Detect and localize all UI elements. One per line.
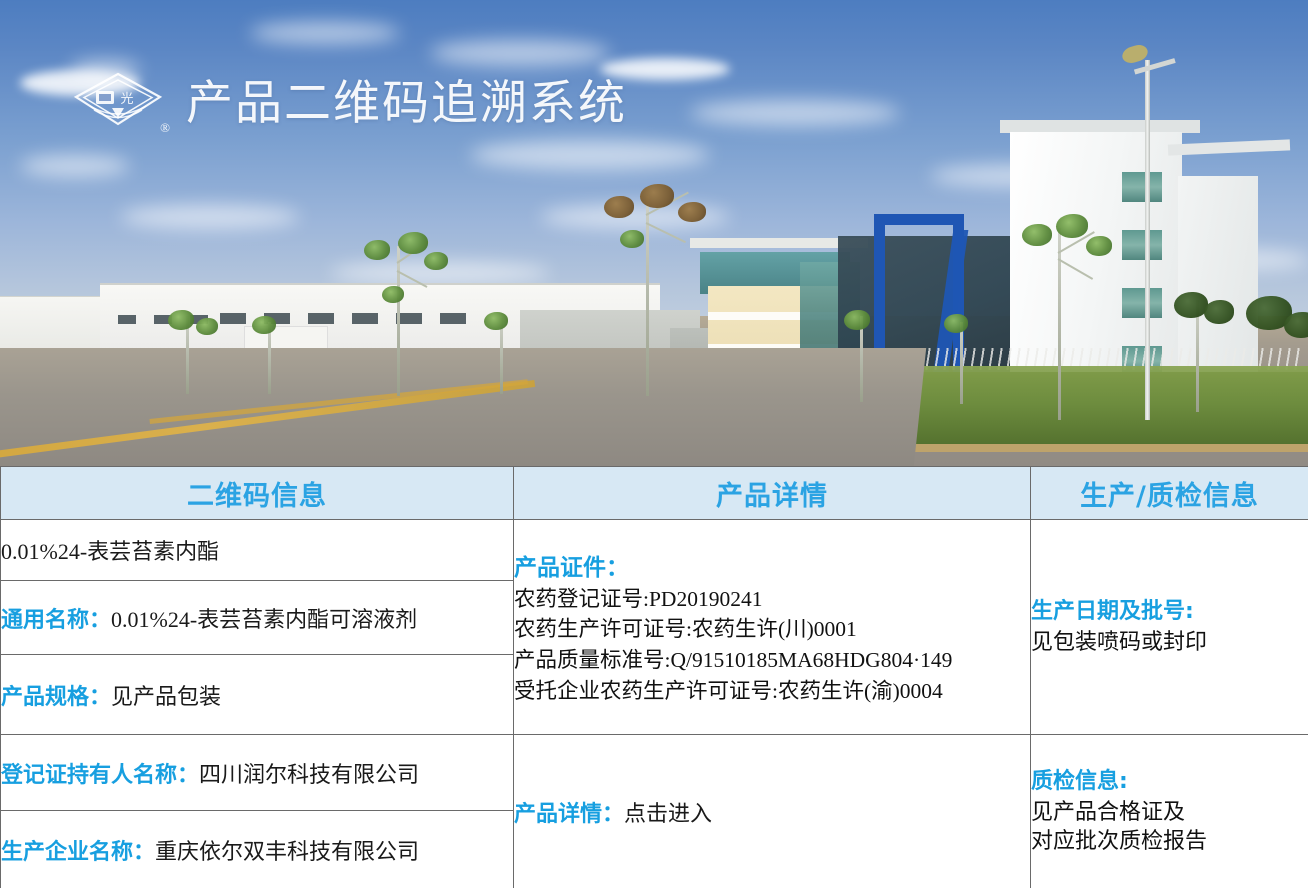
svg-text:光: 光: [120, 92, 133, 107]
table-row: 登记证持有人名称：四川润尔科技有限公司 产品详情：点击进入 质检信息: 见产品合…: [1, 735, 1308, 811]
tree-foliage: [398, 232, 428, 254]
glass-pane: [1122, 172, 1162, 202]
cell-production-date: 生产日期及批号: 见包装喷码或封印: [1031, 520, 1308, 735]
cell-specification: 产品规格：见产品包装: [1, 655, 514, 735]
specification-value: 见产品包装: [111, 684, 221, 709]
hero-banner: 光 ® 产品二维码追溯系统: [0, 0, 1308, 466]
tree-trunk: [646, 196, 649, 396]
manufacturer-label: 生产企业名称：: [1, 840, 155, 865]
certificate-line: 受托企业农药生产许可证号:农药生许(渝)0004: [514, 676, 1030, 707]
tree-foliage: [382, 286, 404, 303]
tree-foliage: [196, 318, 218, 335]
product-name-value: 0.01%24-表芸苔素内酯: [1, 539, 219, 564]
tree-foliage: [1284, 312, 1308, 338]
cloud-shape: [250, 22, 400, 44]
tree-foliage: [1204, 300, 1234, 324]
brand-lockup: 光 ® 产品二维码追溯系统: [70, 68, 627, 138]
glass-pane: [1122, 230, 1162, 260]
table-header-row: 二维码信息 产品详情 生产/质检信息: [1, 467, 1308, 520]
tree-foliage: [678, 202, 706, 222]
cell-common-name: 通用名称：0.01%24-表芸苔素内酯可溶液剂: [1, 581, 514, 655]
common-name-value: 0.01%24-表芸苔素内酯可溶液剂: [111, 607, 417, 632]
certificate-line: 产品质量标准号:Q/91510185MA68HDG804·149: [514, 645, 1030, 676]
road-surface: [0, 348, 926, 466]
cell-registrant: 登记证持有人名称：四川润尔科技有限公司: [1, 735, 514, 811]
registrant-value: 四川润尔科技有限公司: [199, 762, 419, 787]
common-name-label: 通用名称：: [1, 608, 111, 633]
company-logo: 光 ®: [70, 68, 166, 138]
tree-foliage: [1056, 214, 1088, 238]
traceability-info-table: 二维码信息 产品详情 生产/质检信息 0.01%24-表芸苔素内酯 产品证件： …: [0, 466, 1308, 888]
window: [352, 313, 378, 324]
cloud-shape: [470, 140, 710, 170]
column-header-qr-info: 二维码信息: [1, 467, 514, 520]
cell-qc-info: 质检信息: 见产品合格证及 对应批次质检报告: [1031, 735, 1308, 888]
tree-foliage: [1086, 236, 1112, 256]
tree-foliage: [944, 314, 968, 333]
tree-foliage: [424, 252, 448, 270]
tree-foliage: [1022, 224, 1052, 246]
cloud-shape: [690, 100, 900, 126]
tree-foliage: [484, 312, 508, 330]
manufacturer-value: 重庆依尔双丰科技有限公司: [155, 839, 419, 864]
page-title: 产品二维码追溯系统: [186, 80, 627, 127]
tree-trunk: [960, 322, 963, 404]
cloud-shape: [430, 40, 610, 66]
window: [118, 315, 136, 324]
tree-foliage: [844, 310, 870, 330]
cell-product-certificates: 产品证件： 农药登记证号:PD20190241 农药生产许可证号:农药生许(川)…: [514, 520, 1031, 735]
tree-foliage: [604, 196, 634, 218]
tree-trunk: [397, 246, 400, 396]
tree-foliage: [364, 240, 390, 260]
product-detail-label: 产品详情：: [514, 802, 624, 827]
certificate-line: 农药登记证号:PD20190241: [514, 584, 1030, 615]
tree-foliage: [1174, 292, 1208, 318]
table-row: 0.01%24-表芸苔素内酯 产品证件： 农药登记证号:PD20190241 农…: [1, 520, 1308, 581]
glass-pane: [1122, 288, 1162, 318]
traceability-page: 光 ® 产品二维码追溯系统 二维码信息 产品详情 生产/质检信息: [0, 0, 1308, 888]
qc-info-title: 质检信息:: [1031, 767, 1308, 797]
registered-mark-icon: ®: [160, 120, 170, 136]
registrant-label: 登记证持有人名称：: [1, 763, 199, 788]
production-date-title: 生产日期及批号:: [1031, 597, 1308, 627]
cell-manufacturer: 生产企业名称：重庆依尔双丰科技有限公司: [1, 811, 514, 888]
window: [308, 313, 334, 324]
certificate-line: 农药生产许可证号:农药生许(川)0001: [514, 614, 1030, 645]
product-detail-link[interactable]: 点击进入: [624, 801, 712, 826]
window: [440, 313, 466, 324]
tree-foliage: [168, 310, 194, 330]
production-date-value: 见包装喷码或封印: [1031, 627, 1308, 657]
column-header-production-qc: 生产/质检信息: [1031, 467, 1308, 520]
tree-foliage: [640, 184, 674, 208]
cell-product-name: 0.01%24-表芸苔素内酯: [1, 520, 514, 581]
street-lamp-pole: [1145, 60, 1150, 420]
specification-label: 产品规格：: [1, 685, 111, 710]
window: [220, 313, 246, 324]
tree-foliage: [620, 230, 644, 248]
qc-info-line: 见产品合格证及: [1031, 797, 1308, 827]
qc-info-line: 对应批次质检报告: [1031, 826, 1308, 856]
cloud-shape: [20, 155, 130, 177]
cell-product-detail-link[interactable]: 产品详情：点击进入: [514, 735, 1031, 888]
certificates-title: 产品证件：: [514, 548, 1030, 582]
cloud-shape: [120, 205, 300, 229]
tree-trunk: [1058, 228, 1061, 420]
column-header-product-detail: 产品详情: [514, 467, 1031, 520]
tree-foliage: [252, 316, 276, 334]
